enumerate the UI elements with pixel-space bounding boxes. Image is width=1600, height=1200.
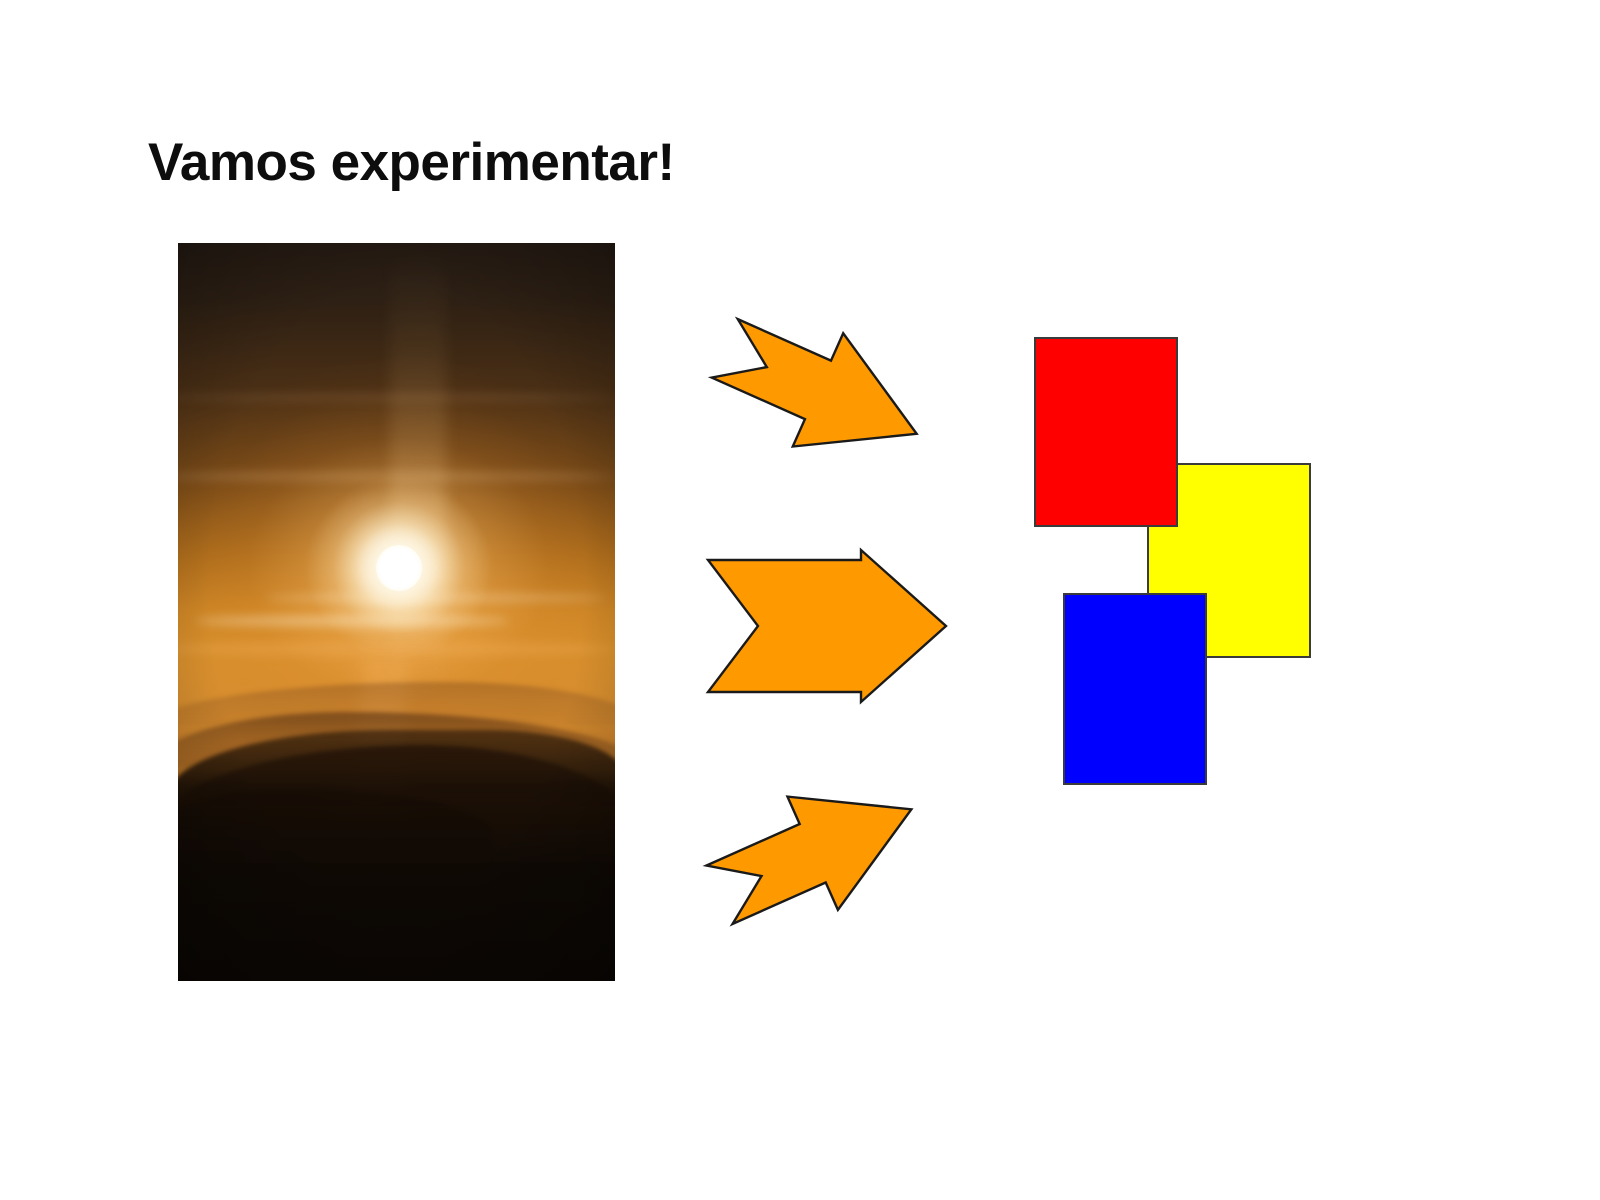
arrow-top-shape (700, 292, 942, 491)
rect-red (1034, 337, 1178, 527)
rect-blue (1063, 593, 1207, 785)
page-title: Vamos experimentar! (148, 134, 675, 192)
arrow-bottom (700, 740, 990, 955)
photo-vignette (178, 243, 615, 981)
slide-canvas: Vamos experimentar! (0, 0, 1600, 1200)
sunset-photo (178, 243, 615, 981)
arrow-top (700, 330, 990, 545)
arrow-middle-shape (708, 550, 946, 702)
arrow-bottom-shape (694, 753, 936, 952)
arrow-middle (700, 548, 960, 718)
